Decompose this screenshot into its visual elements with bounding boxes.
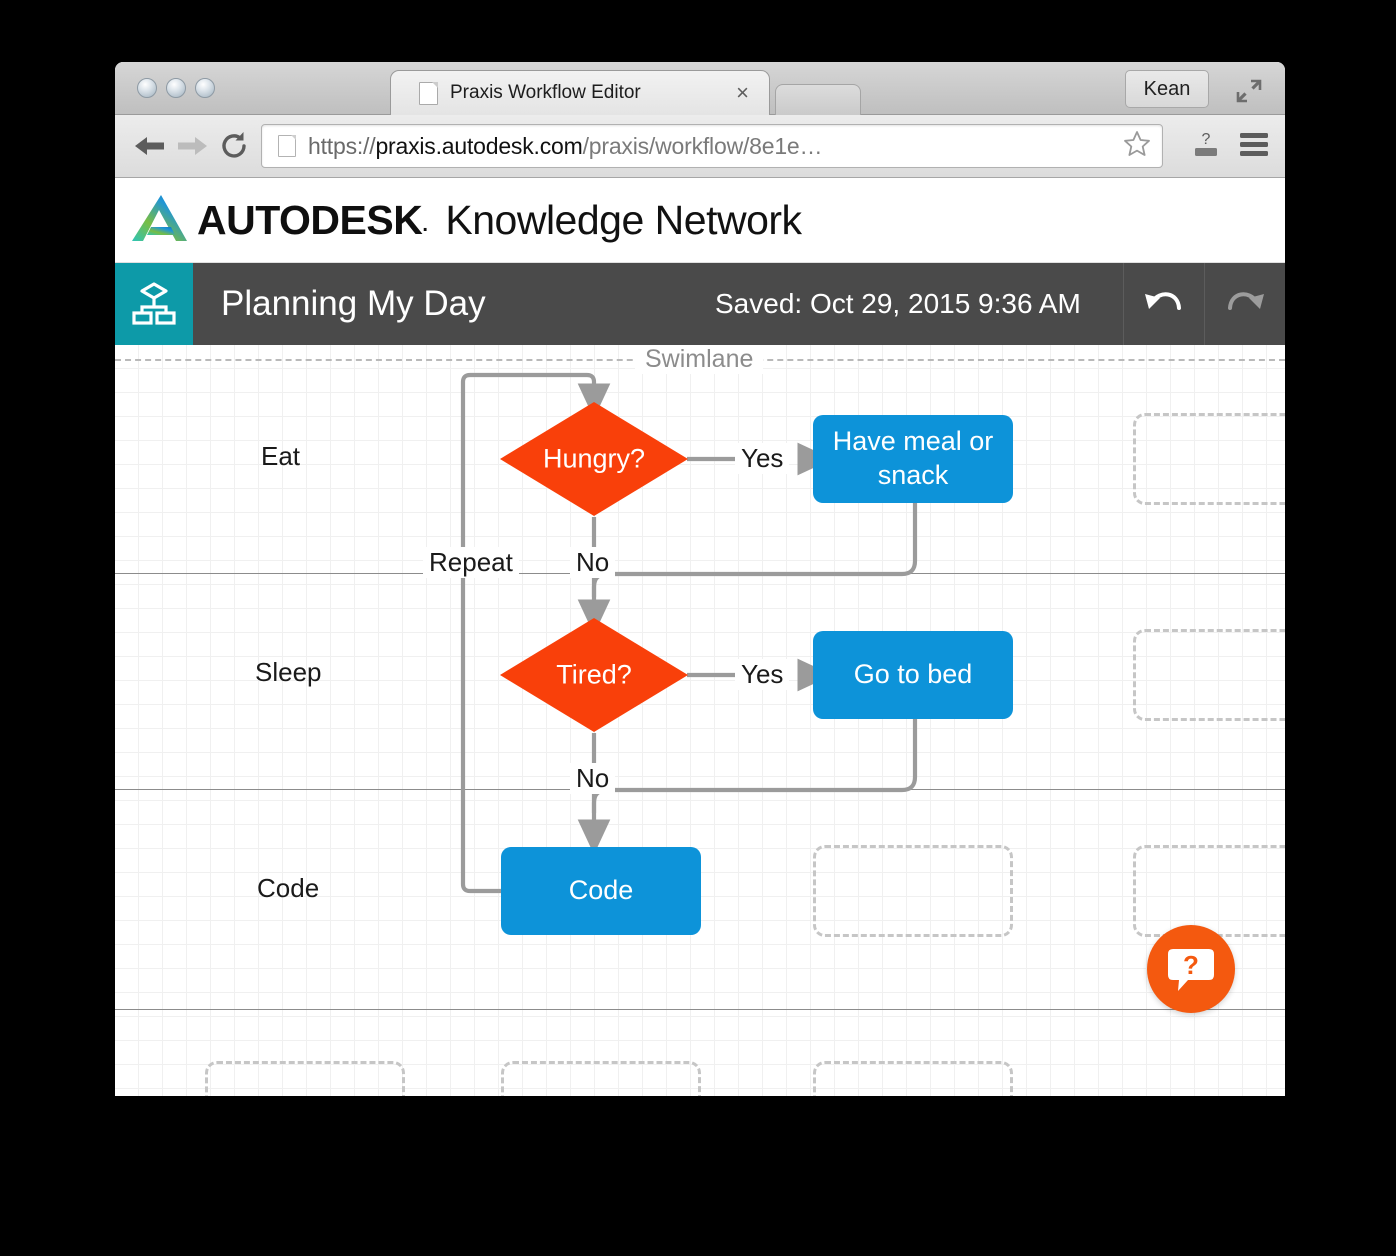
help-chat-icon[interactable]: ? [1147, 925, 1235, 1013]
brand-text: AUTODESK [197, 197, 422, 243]
close-icon[interactable]: × [728, 82, 757, 104]
tab-title: Praxis Workflow Editor [450, 82, 728, 104]
placeholder-slot-sleep-right[interactable] [1133, 629, 1285, 721]
edge-label-hungry-yes: Yes [735, 443, 789, 474]
window-controls [137, 78, 215, 98]
minimize-window-button[interactable] [166, 78, 186, 98]
url-host: praxis.autodesk.com [375, 133, 582, 159]
browser-tab-active[interactable]: Praxis Workflow Editor × [390, 70, 770, 115]
undo-button[interactable] [1123, 263, 1204, 345]
process-node-go-to-bed-label: Go to bed [854, 658, 973, 692]
brand-mark: . [422, 214, 427, 236]
placeholder-slot-code-right[interactable] [1133, 845, 1285, 937]
edge-label-tired-yes: Yes [735, 659, 789, 690]
site-header: AUTODESK. Knowledge Network [115, 178, 1285, 263]
browser-window: Praxis Workflow Editor × Kean [115, 62, 1285, 1096]
forward-arrow-icon[interactable] [171, 125, 213, 167]
placeholder-slot-next-mid[interactable] [501, 1061, 701, 1096]
workflow-canvas[interactable]: Swimlane Eat Sleep Code [115, 345, 1285, 1096]
url-text: https://praxis.autodesk.com/praxis/workf… [308, 133, 822, 160]
swimlane-divider-eat-sleep [115, 573, 1285, 574]
back-arrow-icon[interactable] [129, 125, 171, 167]
star-icon[interactable] [1112, 129, 1152, 164]
reload-arrow-icon[interactable] [213, 125, 255, 167]
help-tool-icon[interactable]: ? [1189, 127, 1223, 166]
workflow-icon[interactable] [115, 263, 193, 345]
redo-button[interactable] [1204, 263, 1285, 345]
help-glyph: ? [1183, 950, 1199, 980]
placeholder-slot-next-right[interactable] [813, 1061, 1013, 1096]
swimlane-label-sleep[interactable]: Sleep [255, 657, 322, 688]
swimlane-label-eat[interactable]: Eat [261, 441, 300, 472]
edge-label-hungry-no: No [570, 547, 615, 578]
app-toolbar: Planning My Day Saved: Oct 29, 2015 9:36… [115, 263, 1285, 345]
process-node-have-meal-label: Have meal or snack [813, 425, 1013, 493]
decision-node-tired[interactable]: Tired? [499, 617, 689, 733]
profile-button[interactable]: Kean [1125, 70, 1209, 108]
url-path: /praxis/workflow/8e1e… [583, 133, 823, 159]
fullscreen-icon[interactable] [1235, 78, 1263, 104]
screen: Praxis Workflow Editor × Kean [0, 0, 1396, 1256]
new-tab-button[interactable] [775, 84, 861, 115]
autodesk-logo-icon[interactable] [129, 191, 191, 249]
brand-name: AUTODESK. [197, 197, 427, 244]
edge-label-repeat: Repeat [423, 547, 519, 578]
placeholder-slot-code-mid[interactable] [813, 845, 1013, 937]
process-node-go-to-bed[interactable]: Go to bed [813, 631, 1013, 719]
swimlane-divider-sleep-code [115, 789, 1285, 790]
placeholder-slot-next-left[interactable] [205, 1061, 405, 1096]
profile-label: Kean [1144, 78, 1191, 101]
svg-text:?: ? [1202, 131, 1211, 148]
swimlane-divider-code-next [115, 1009, 1285, 1010]
process-node-code-label: Code [569, 874, 634, 908]
address-bar[interactable]: https://praxis.autodesk.com/praxis/workf… [261, 124, 1163, 168]
page-icon [278, 135, 296, 157]
zoom-window-button[interactable] [195, 78, 215, 98]
page-title: Planning My Day [221, 284, 486, 324]
edge-label-tired-no: No [570, 763, 615, 794]
process-node-have-meal[interactable]: Have meal or snack [813, 415, 1013, 503]
decision-node-hungry[interactable]: Hungry? [499, 401, 689, 517]
page-icon [419, 82, 438, 105]
swimlane-caption: Swimlane [635, 345, 763, 374]
toolbar-actions [1123, 263, 1285, 345]
url-scheme: https:// [308, 133, 375, 159]
saved-status: Saved: Oct 29, 2015 9:36 AM [715, 288, 1081, 320]
placeholder-slot-eat-right[interactable] [1133, 413, 1285, 505]
browser-tabstrip: Praxis Workflow Editor × Kean [115, 62, 1285, 115]
swimlane-label-code[interactable]: Code [257, 873, 319, 904]
close-window-button[interactable] [137, 78, 157, 98]
browser-toolbar: https://praxis.autodesk.com/praxis/workf… [115, 115, 1285, 178]
product-name: Knowledge Network [445, 197, 801, 244]
process-node-code[interactable]: Code [501, 847, 701, 935]
hamburger-menu-icon[interactable] [1237, 129, 1271, 164]
